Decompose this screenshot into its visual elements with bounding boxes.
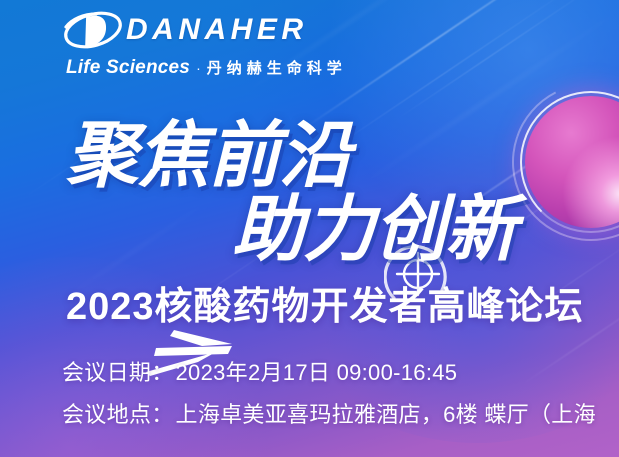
headline-line-1: 聚焦前沿 — [66, 120, 350, 192]
event-poster: DANAHER Life Sciences · 丹纳赫生命科学 聚焦前沿 助力创… — [0, 0, 619, 457]
headline-line-2: 助力创新 — [232, 194, 516, 266]
danaher-logo-icon — [62, 10, 124, 50]
brand-sub-chinese: 丹纳赫生命科学 — [207, 61, 347, 76]
event-venue-line: 会议地点：上海卓美亚喜玛拉雅酒店，6楼 蝶厅（上海 — [62, 404, 619, 426]
danaher-wordmark: DANAHER — [126, 15, 308, 45]
event-info: 会议日期：2023年2月17日 09:00-16:45 会议地点：上海卓美亚喜玛… — [62, 362, 619, 426]
event-subtitle: 2023核酸药物开发者高峰论坛 — [66, 288, 584, 326]
brand-sub-separator: · — [196, 61, 201, 75]
event-venue-label: 会议地点： — [62, 402, 174, 427]
brand-sub-english: Life Sciences — [66, 58, 190, 77]
headline-block: 聚焦前沿 助力创新 — [0, 112, 619, 282]
brand-subline: Life Sciences · 丹纳赫生命科学 — [66, 58, 402, 77]
event-date-label: 会议日期： — [62, 360, 174, 385]
event-venue-value: 上海卓美亚喜玛拉雅酒店，6楼 蝶厅（上海 — [176, 402, 596, 427]
event-date-line: 会议日期：2023年2月17日 09:00-16:45 — [62, 362, 619, 384]
brand-lockup: DANAHER Life Sciences · 丹纳赫生命科学 — [62, 8, 402, 77]
event-date-value: 2023年2月17日 09:00-16:45 — [176, 360, 458, 385]
